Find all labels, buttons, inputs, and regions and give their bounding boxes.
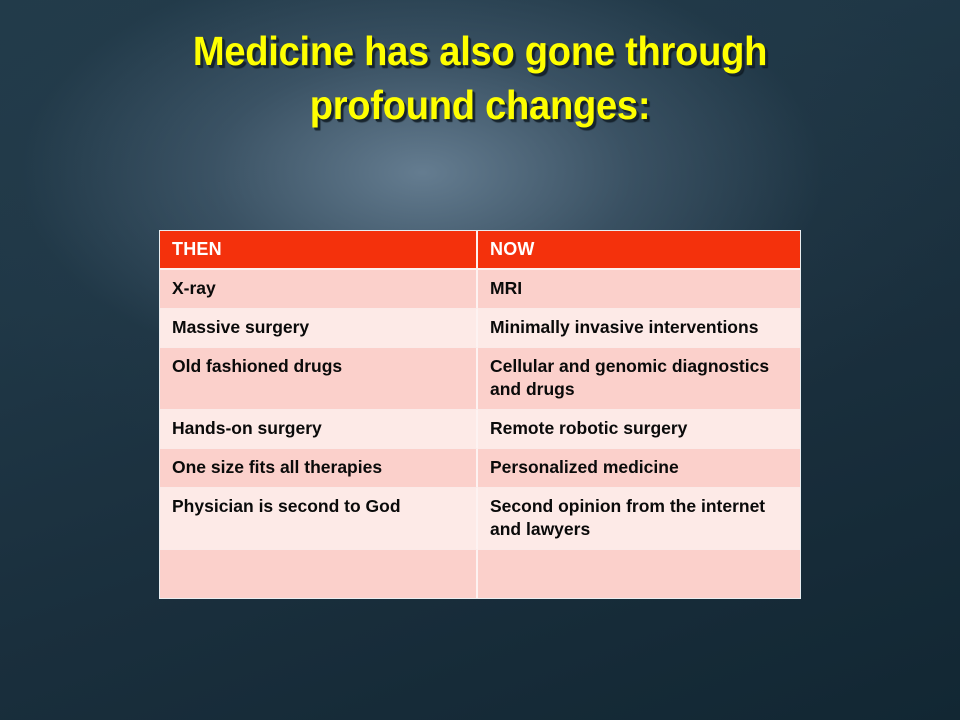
cell-then: Massive surgery <box>160 309 478 348</box>
table-body: X-ray MRI Massive surgery Minimally inva… <box>160 270 800 598</box>
cell-now: Cellular and genomic diagnostics and dru… <box>478 348 800 410</box>
table-row: One size fits all therapies Personalized… <box>160 449 800 488</box>
table-row: Physician is second to God Second opinio… <box>160 488 800 550</box>
cell-now: Personalized medicine <box>478 449 800 488</box>
cell-now: MRI <box>478 270 800 309</box>
table-header-row: THEN NOW <box>160 231 800 270</box>
cell-then: X-ray <box>160 270 478 309</box>
table-row: X-ray MRI <box>160 270 800 309</box>
cell-then: Hands-on surgery <box>160 410 478 449</box>
comparison-table-container: THEN NOW X-ray MRI Massive surgery Minim… <box>159 230 801 599</box>
cell-then: Physician is second to God <box>160 488 478 550</box>
table-header: THEN NOW <box>160 231 800 270</box>
column-header-then: THEN <box>160 231 478 270</box>
cell-now: Minimally invasive interventions <box>478 309 800 348</box>
table-row-empty <box>160 550 800 598</box>
cell-now <box>478 550 800 598</box>
cell-now: Remote robotic surgery <box>478 410 800 449</box>
comparison-table: THEN NOW X-ray MRI Massive surgery Minim… <box>160 231 800 598</box>
table-row: Hands-on surgery Remote robotic surgery <box>160 410 800 449</box>
page-title: Medicine has also gone through profound … <box>99 24 862 132</box>
cell-then: Old fashioned drugs <box>160 348 478 410</box>
cell-now: Second opinion from the internet and law… <box>478 488 800 550</box>
slide-canvas: Medicine has also gone through profound … <box>0 0 960 720</box>
table-row: Massive surgery Minimally invasive inter… <box>160 309 800 348</box>
cell-then: One size fits all therapies <box>160 449 478 488</box>
column-header-now: NOW <box>478 231 800 270</box>
table-row: Old fashioned drugs Cellular and genomic… <box>160 348 800 410</box>
cell-then <box>160 550 478 598</box>
